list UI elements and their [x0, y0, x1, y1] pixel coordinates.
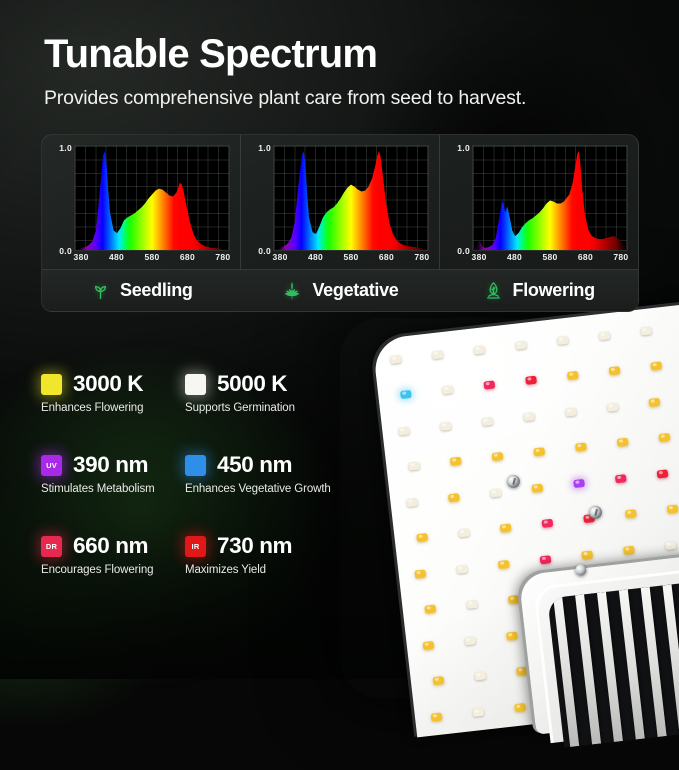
spec-value: 660 nm [73, 533, 148, 559]
led-diode [466, 600, 478, 609]
spectrum-chart-flowering: 1.00.0380480580680780 [439, 135, 638, 271]
x-tick: 780 [414, 252, 429, 262]
led-diode [506, 631, 518, 640]
x-tick: 780 [613, 252, 628, 262]
spec-item-730nm: IR730 nmMaximizes Yield [185, 533, 371, 576]
spec-heading: 3000 K [41, 371, 185, 397]
spec-description: Supports Germination [185, 402, 371, 414]
led-diode [665, 541, 677, 550]
led-diode [557, 336, 569, 345]
x-tick: 680 [180, 252, 195, 262]
spec-value: 5000 K [217, 371, 287, 397]
plot-area: 1.00.0 [247, 145, 433, 251]
spec-description: Maximizes Yield [185, 564, 371, 576]
y-tick-min: 0.0 [457, 246, 470, 256]
color-swatch-icon: UV [41, 455, 62, 476]
y-axis-labels: 1.00.0 [247, 145, 273, 251]
heatsink-fin [641, 587, 667, 737]
page-title: Tunable Spectrum [44, 33, 644, 76]
spec-heading: IR730 nm [185, 533, 371, 559]
stage-vegetative[interactable]: Vegetative [241, 270, 440, 311]
led-diode [514, 703, 526, 712]
spectrum-spec-list: 3000 KEnhances Flowering5000 KSupports G… [41, 371, 371, 576]
led-diode [424, 605, 436, 614]
x-tick: 480 [308, 252, 323, 262]
led-diode [573, 479, 585, 488]
cannabis-leaf-icon [281, 280, 303, 302]
led-diode [490, 488, 502, 497]
led-diode [581, 550, 593, 559]
led-diode [432, 350, 444, 359]
color-swatch-icon: IR [185, 536, 206, 557]
x-axis-labels: 380480580680780 [472, 251, 628, 267]
color-swatch-icon: DR [41, 536, 62, 557]
driver-vent-core [547, 579, 679, 747]
led-diode [414, 569, 426, 578]
x-tick: 680 [578, 252, 593, 262]
y-tick-max: 1.0 [457, 143, 470, 153]
led-diode [431, 713, 443, 722]
y-tick-max: 1.0 [258, 143, 271, 153]
led-diode [659, 433, 671, 442]
y-tick-min: 0.0 [59, 246, 72, 256]
stage-label: Vegetative [312, 280, 398, 301]
led-diode [483, 380, 495, 389]
spec-item-390nm: UV390 nmStimulates Metabolism [41, 452, 185, 495]
led-diode [540, 555, 552, 564]
led-diode [400, 390, 412, 399]
spec-heading: 5000 K [185, 371, 371, 397]
spec-description: Enhances Flowering [41, 402, 185, 414]
plot-area: 1.00.0 [446, 145, 632, 251]
spectrum-curve [274, 146, 428, 250]
led-diode [625, 509, 637, 518]
led-diode [667, 504, 679, 513]
panel-screw-icon [588, 505, 602, 519]
driver-heatsink-module [519, 555, 679, 734]
spectrum-charts: 1.00.03804805806807801.00.03804805806807… [42, 135, 638, 271]
y-axis-labels: 1.00.0 [446, 145, 472, 251]
color-swatch-icon [185, 455, 206, 476]
spectrum-curve [75, 146, 229, 250]
y-tick-max: 1.0 [59, 143, 72, 153]
spec-value: 390 nm [73, 452, 148, 478]
led-diode [440, 422, 452, 431]
led-diode [640, 326, 652, 335]
spectrum-card: 1.00.03804805806807801.00.03804805806807… [41, 134, 639, 312]
led-diode [482, 417, 494, 426]
x-axis-labels: 380480580680780 [273, 251, 429, 267]
x-tick: 680 [379, 252, 394, 262]
led-diode [516, 667, 528, 676]
spectrum-plot [472, 145, 628, 251]
led-diode [464, 636, 476, 645]
led-diode [607, 403, 619, 412]
led-diode [390, 355, 402, 364]
y-axis-labels: 1.00.0 [48, 145, 74, 251]
led-diode [406, 498, 418, 507]
led-diode [657, 469, 669, 478]
led-diode [416, 533, 428, 542]
spec-description: Encourages Flowering [41, 564, 185, 576]
x-tick: 380 [74, 252, 89, 262]
page-subtitle: Provides comprehensive plant care from s… [44, 87, 644, 110]
x-axis-labels: 380480580680780 [74, 251, 230, 267]
led-diode [609, 366, 621, 375]
heatsink-fin [597, 592, 623, 742]
led-diode [456, 565, 468, 574]
color-swatch-icon [185, 374, 206, 395]
x-tick: 780 [215, 252, 230, 262]
led-diode [599, 331, 611, 340]
led-diode [617, 438, 629, 447]
stage-seedling[interactable]: Seedling [42, 270, 241, 311]
led-diode [472, 708, 484, 717]
spec-description: Stimulates Metabolism [41, 483, 185, 495]
x-tick: 580 [542, 252, 557, 262]
led-diode [398, 426, 410, 435]
spec-description: Enhances Vegetative Growth [185, 483, 371, 495]
spec-item-660nm: DR660 nmEncourages Flowering [41, 533, 185, 576]
spectrum-chart-seedling: 1.00.0380480580680780 [42, 135, 240, 271]
led-diode [458, 528, 470, 537]
led-diode [423, 641, 435, 650]
led-diode [567, 371, 579, 380]
led-diode [442, 385, 454, 394]
x-tick: 380 [472, 252, 487, 262]
spectrum-chart-vegetative: 1.00.0380480580680780 [240, 135, 439, 271]
led-diode [523, 412, 535, 421]
flower-bud-icon [483, 280, 504, 301]
plot-area: 1.00.0 [48, 145, 234, 251]
spec-heading: 450 nm [185, 452, 371, 478]
spec-heading: UV390 nm [41, 452, 185, 478]
led-diode [408, 461, 420, 470]
stage-flowering[interactable]: Flowering [439, 270, 638, 311]
led-diode [448, 493, 460, 502]
led-diode [508, 595, 520, 604]
header: Tunable Spectrum Provides comprehensive … [44, 33, 644, 110]
seedling-icon [90, 280, 111, 301]
led-diode [575, 442, 587, 451]
spectrum-plot [273, 145, 429, 251]
stage-label: Seedling [120, 280, 193, 301]
spec-value: 450 nm [217, 452, 292, 478]
led-diode [615, 474, 627, 483]
heatsink-fin [619, 589, 645, 739]
led-diode [533, 447, 545, 456]
spec-value: 730 nm [217, 533, 292, 559]
heatsink-fin [663, 584, 679, 734]
led-diode [525, 376, 537, 385]
stage-label: Flowering [513, 280, 595, 301]
spec-item-450nm: 450 nmEnhances Vegetative Growth [185, 452, 371, 495]
led-diode [650, 361, 662, 370]
spectrum-curve [473, 146, 627, 250]
color-swatch-icon [41, 374, 62, 395]
x-tick: 580 [343, 252, 358, 262]
led-diode [473, 345, 485, 354]
led-diode [500, 523, 512, 532]
x-tick: 480 [109, 252, 124, 262]
spec-value: 3000 K [73, 371, 143, 397]
x-tick: 380 [273, 252, 288, 262]
led-diode [492, 452, 504, 461]
led-diode [541, 519, 553, 528]
y-tick-min: 0.0 [258, 246, 271, 256]
led-diode [498, 560, 510, 569]
led-diode [450, 457, 462, 466]
led-diode [648, 398, 660, 407]
led-diode [565, 407, 577, 416]
led-diode [474, 671, 486, 680]
spec-item-3000k: 3000 KEnhances Flowering [41, 371, 185, 414]
led-diode [623, 546, 635, 555]
growth-stage-legend: Seedling Vegetative Flowering [42, 269, 638, 311]
led-diode [531, 484, 543, 493]
spec-item-5000k: 5000 KSupports Germination [185, 371, 371, 414]
spectrum-plot [74, 145, 230, 251]
spec-heading: DR660 nm [41, 533, 185, 559]
x-tick: 580 [144, 252, 159, 262]
heatsink-fin [575, 594, 601, 744]
x-tick: 480 [507, 252, 522, 262]
led-diode [515, 341, 527, 350]
led-diode [433, 676, 445, 685]
panel-screw-icon [506, 474, 520, 488]
